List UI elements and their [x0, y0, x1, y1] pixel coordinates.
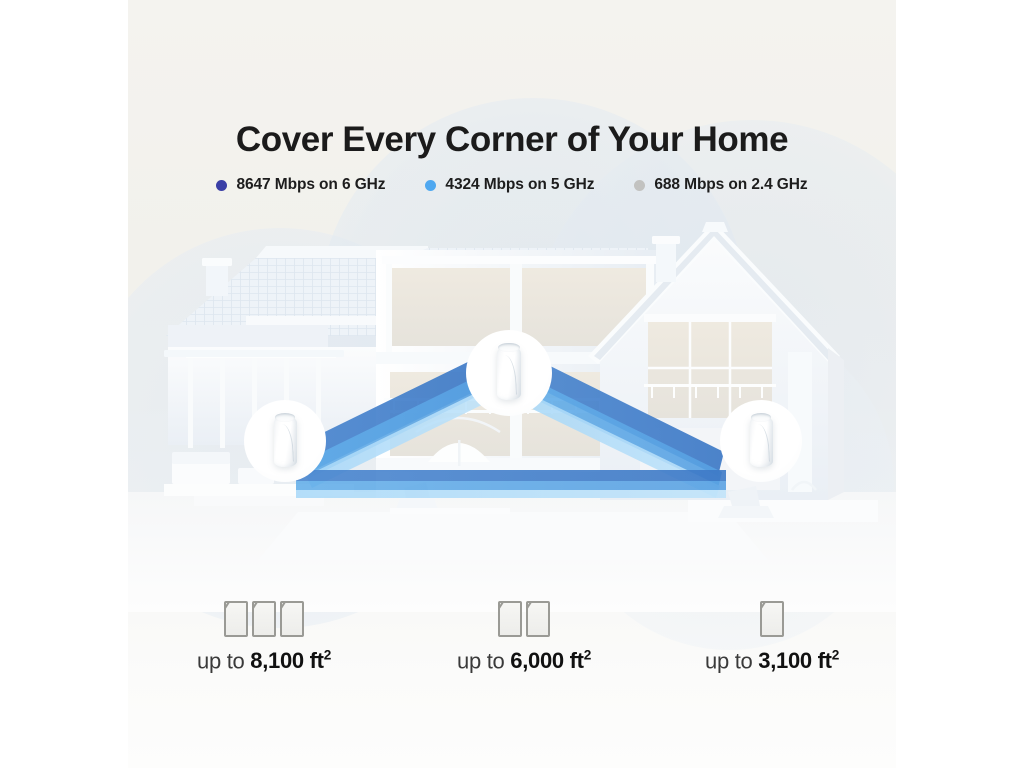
coverage-area-3-pack: up to 8,100 ft2: [197, 648, 331, 674]
legend-label-5ghz: 4324 Mbps on 5 GHz: [445, 176, 594, 194]
mesh-unit-left: [244, 400, 326, 482]
coverage-value: 8,100: [250, 648, 304, 673]
legend-item-24ghz: 688 Mbps on 2.4 GHz: [634, 176, 807, 194]
stat-1-pack: up to 3,100 ft2: [648, 600, 896, 674]
mesh-device-icon: [760, 601, 784, 637]
coverage-unit: ft: [818, 648, 832, 673]
device-count-icons-3: [224, 600, 304, 638]
stat-2-pack: up to 6,000 ft2: [400, 600, 648, 674]
mesh-device-icon: [280, 601, 304, 637]
mesh-device-icon: [224, 601, 248, 637]
coverage-exponent: 2: [832, 648, 839, 663]
coverage-value: 3,100: [758, 648, 812, 673]
content-panel: Cover Every Corner of Your Home 8647 Mbp…: [128, 0, 896, 768]
mesh-unit-center: [466, 330, 552, 416]
page-title: Cover Every Corner of Your Home: [128, 121, 896, 160]
stat-3-pack: up to 8,100 ft2: [128, 600, 400, 674]
coverage-exponent: 2: [324, 648, 331, 663]
device-count-icons-2: [498, 600, 550, 638]
mesh-unit-right: [720, 400, 802, 482]
coverage-unit: ft: [570, 648, 584, 673]
coverage-exponent: 2: [584, 648, 591, 663]
coverage-value: 6,000: [510, 648, 564, 673]
legend-dot-icon-6ghz: [216, 180, 227, 191]
coverage-prefix: up to: [197, 648, 244, 673]
coverage-prefix: up to: [457, 648, 504, 673]
coverage-stats: up to 8,100 ft2 up to 6,000 ft2: [128, 600, 896, 674]
router-top-vent: [275, 413, 295, 422]
legend-dot-icon-5ghz: [425, 180, 436, 191]
coverage-area-2-pack: up to 6,000 ft2: [457, 648, 591, 674]
mesh-device-icon: [252, 601, 276, 637]
legend-item-6ghz: 8647 Mbps on 6 GHz: [216, 176, 385, 194]
coverage-prefix: up to: [705, 648, 752, 673]
device-count-icons-1: [760, 600, 784, 638]
product-feature-banner: Cover Every Corner of Your Home 8647 Mbp…: [0, 0, 1024, 768]
mesh-device-icon: [526, 601, 550, 637]
coverage-unit: ft: [310, 648, 324, 673]
legend-item-5ghz: 4324 Mbps on 5 GHz: [425, 176, 594, 194]
legend-label-24ghz: 688 Mbps on 2.4 GHz: [654, 176, 807, 194]
legend-label-6ghz: 8647 Mbps on 6 GHz: [236, 176, 385, 194]
mesh-device-icon: [498, 601, 522, 637]
router-top-vent: [751, 413, 771, 422]
band-legend: 8647 Mbps on 6 GHz 4324 Mbps on 5 GHz 68…: [128, 176, 896, 194]
legend-dot-icon-24ghz: [634, 180, 645, 191]
coverage-area-1-pack: up to 3,100 ft2: [705, 648, 839, 674]
